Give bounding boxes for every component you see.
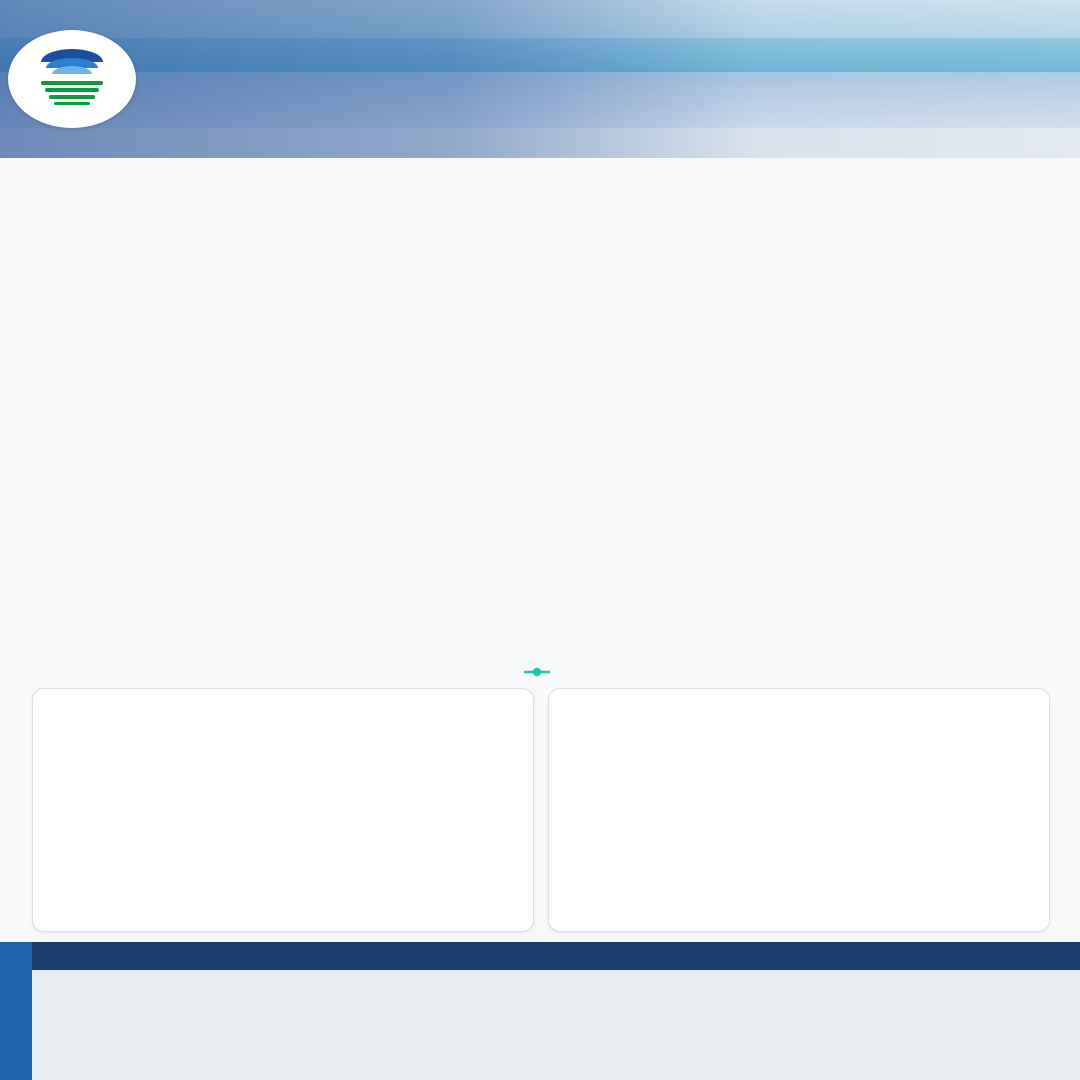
legend-note-bar: [32, 942, 1080, 970]
chart-legend: [28, 664, 1052, 679]
sst-chart: [28, 556, 1052, 684]
legend-sidebar: [0, 942, 32, 1080]
daily-panel-06feb: [548, 688, 1050, 932]
page-header: [0, 0, 1080, 158]
chart-legend-swatch-icon: [524, 667, 550, 677]
logo-waves-icon: [41, 81, 103, 107]
bmkg-logo: [8, 30, 136, 128]
validity-line: [0, 253, 1080, 273]
sst-chart-svg: [28, 556, 1052, 660]
legend-section: [0, 942, 1080, 1080]
header-tint-overlay: [0, 0, 1080, 158]
logo-arc-icon: [41, 49, 103, 79]
daily-panel-05feb: [32, 688, 534, 932]
